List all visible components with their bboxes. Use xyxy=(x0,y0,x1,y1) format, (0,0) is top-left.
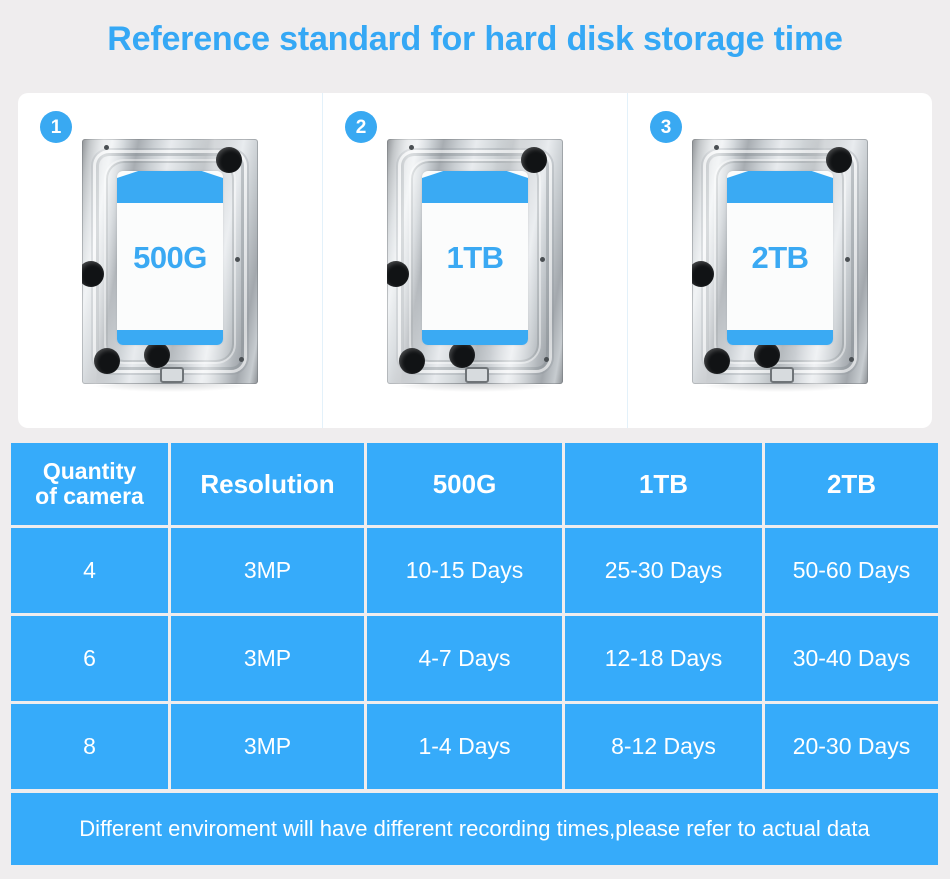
hdd-screw-icon xyxy=(754,342,780,368)
column-header-2tb: 2TB xyxy=(765,443,938,528)
storage-reference-page: Reference standard for hard disk storage… xyxy=(0,0,950,879)
hard-disk-1tb-image: 1TB xyxy=(387,139,563,384)
hdd-capacity-text: 500G xyxy=(117,171,223,345)
column-header-quantity-line2: of camera xyxy=(11,484,168,509)
cell-resolution: 3MP xyxy=(171,528,367,616)
hard-disk-cell-1: 1 500G xyxy=(18,93,322,428)
cell-resolution: 3MP xyxy=(171,704,367,789)
badge-number-1: 1 xyxy=(40,111,72,143)
hdd-connector-icon xyxy=(465,367,489,383)
column-header-quantity-line1: Quantity xyxy=(11,459,168,484)
hdd-screw-icon xyxy=(826,147,852,173)
cell-2tb: 30-40 Days xyxy=(765,616,938,704)
hdd-screw-icon xyxy=(704,348,730,374)
hdd-dot-icon xyxy=(845,257,850,262)
cell-quantity: 6 xyxy=(11,616,171,704)
hdd-screw-icon xyxy=(144,342,170,368)
hdd-dot-icon xyxy=(849,357,854,362)
column-header-500g: 500G xyxy=(367,443,565,528)
badge-number-3: 3 xyxy=(650,111,682,143)
cell-1tb: 8-12 Days xyxy=(565,704,765,789)
column-header-1tb: 1TB xyxy=(565,443,765,528)
hdd-capacity-text: 1TB xyxy=(422,171,528,345)
hdd-drop-shadow xyxy=(393,383,557,392)
hdd-screw-icon xyxy=(216,147,242,173)
storage-time-table: Quantity of camera Resolution 500G 1TB 2… xyxy=(11,443,938,789)
hdd-dot-icon xyxy=(544,357,549,362)
hdd-capacity-text: 2TB xyxy=(727,171,833,345)
hdd-drop-shadow xyxy=(698,383,862,392)
hdd-label-sticker: 2TB xyxy=(727,171,833,345)
hdd-dot-icon xyxy=(104,145,109,150)
table-header-row: Quantity of camera Resolution 500G 1TB 2… xyxy=(11,443,938,528)
hard-disk-gallery-card: 1 500G xyxy=(18,93,932,428)
cell-500g: 4-7 Days xyxy=(367,616,565,704)
footer-note: Different enviroment will have different… xyxy=(11,793,938,865)
cell-resolution: 3MP xyxy=(171,616,367,704)
hard-disk-2tb-image: 2TB xyxy=(692,139,868,384)
hdd-dot-icon xyxy=(714,145,719,150)
cell-quantity: 4 xyxy=(11,528,171,616)
hard-disk-500g-image: 500G xyxy=(82,139,258,384)
hdd-label-sticker: 500G xyxy=(117,171,223,345)
hdd-screw-icon xyxy=(449,342,475,368)
cell-500g: 10-15 Days xyxy=(367,528,565,616)
hdd-connector-icon xyxy=(770,367,794,383)
hdd-label-sticker: 1TB xyxy=(422,171,528,345)
cell-2tb: 20-30 Days xyxy=(765,704,938,789)
table-row: 4 3MP 10-15 Days 25-30 Days 50-60 Days xyxy=(11,528,938,616)
column-header-resolution: Resolution xyxy=(171,443,367,528)
badge-number-2: 2 xyxy=(345,111,377,143)
hdd-dot-icon xyxy=(540,257,545,262)
hard-disk-cell-3: 3 2TB xyxy=(627,93,932,428)
hdd-screw-icon xyxy=(399,348,425,374)
cell-1tb: 25-30 Days xyxy=(565,528,765,616)
hdd-dot-icon xyxy=(235,257,240,262)
cell-quantity: 8 xyxy=(11,704,171,789)
page-title: Reference standard for hard disk storage… xyxy=(0,20,950,59)
cell-500g: 1-4 Days xyxy=(367,704,565,789)
hdd-connector-icon xyxy=(160,367,184,383)
hdd-screw-icon xyxy=(521,147,547,173)
hdd-drop-shadow xyxy=(88,383,252,392)
hard-disk-cell-2: 2 1TB xyxy=(322,93,627,428)
hdd-dot-icon xyxy=(409,145,414,150)
hdd-screw-icon xyxy=(94,348,120,374)
table-row: 8 3MP 1-4 Days 8-12 Days 20-30 Days xyxy=(11,704,938,789)
cell-2tb: 50-60 Days xyxy=(765,528,938,616)
table-row: 6 3MP 4-7 Days 12-18 Days 30-40 Days xyxy=(11,616,938,704)
hdd-dot-icon xyxy=(239,357,244,362)
column-header-quantity: Quantity of camera xyxy=(11,443,171,528)
cell-1tb: 12-18 Days xyxy=(565,616,765,704)
